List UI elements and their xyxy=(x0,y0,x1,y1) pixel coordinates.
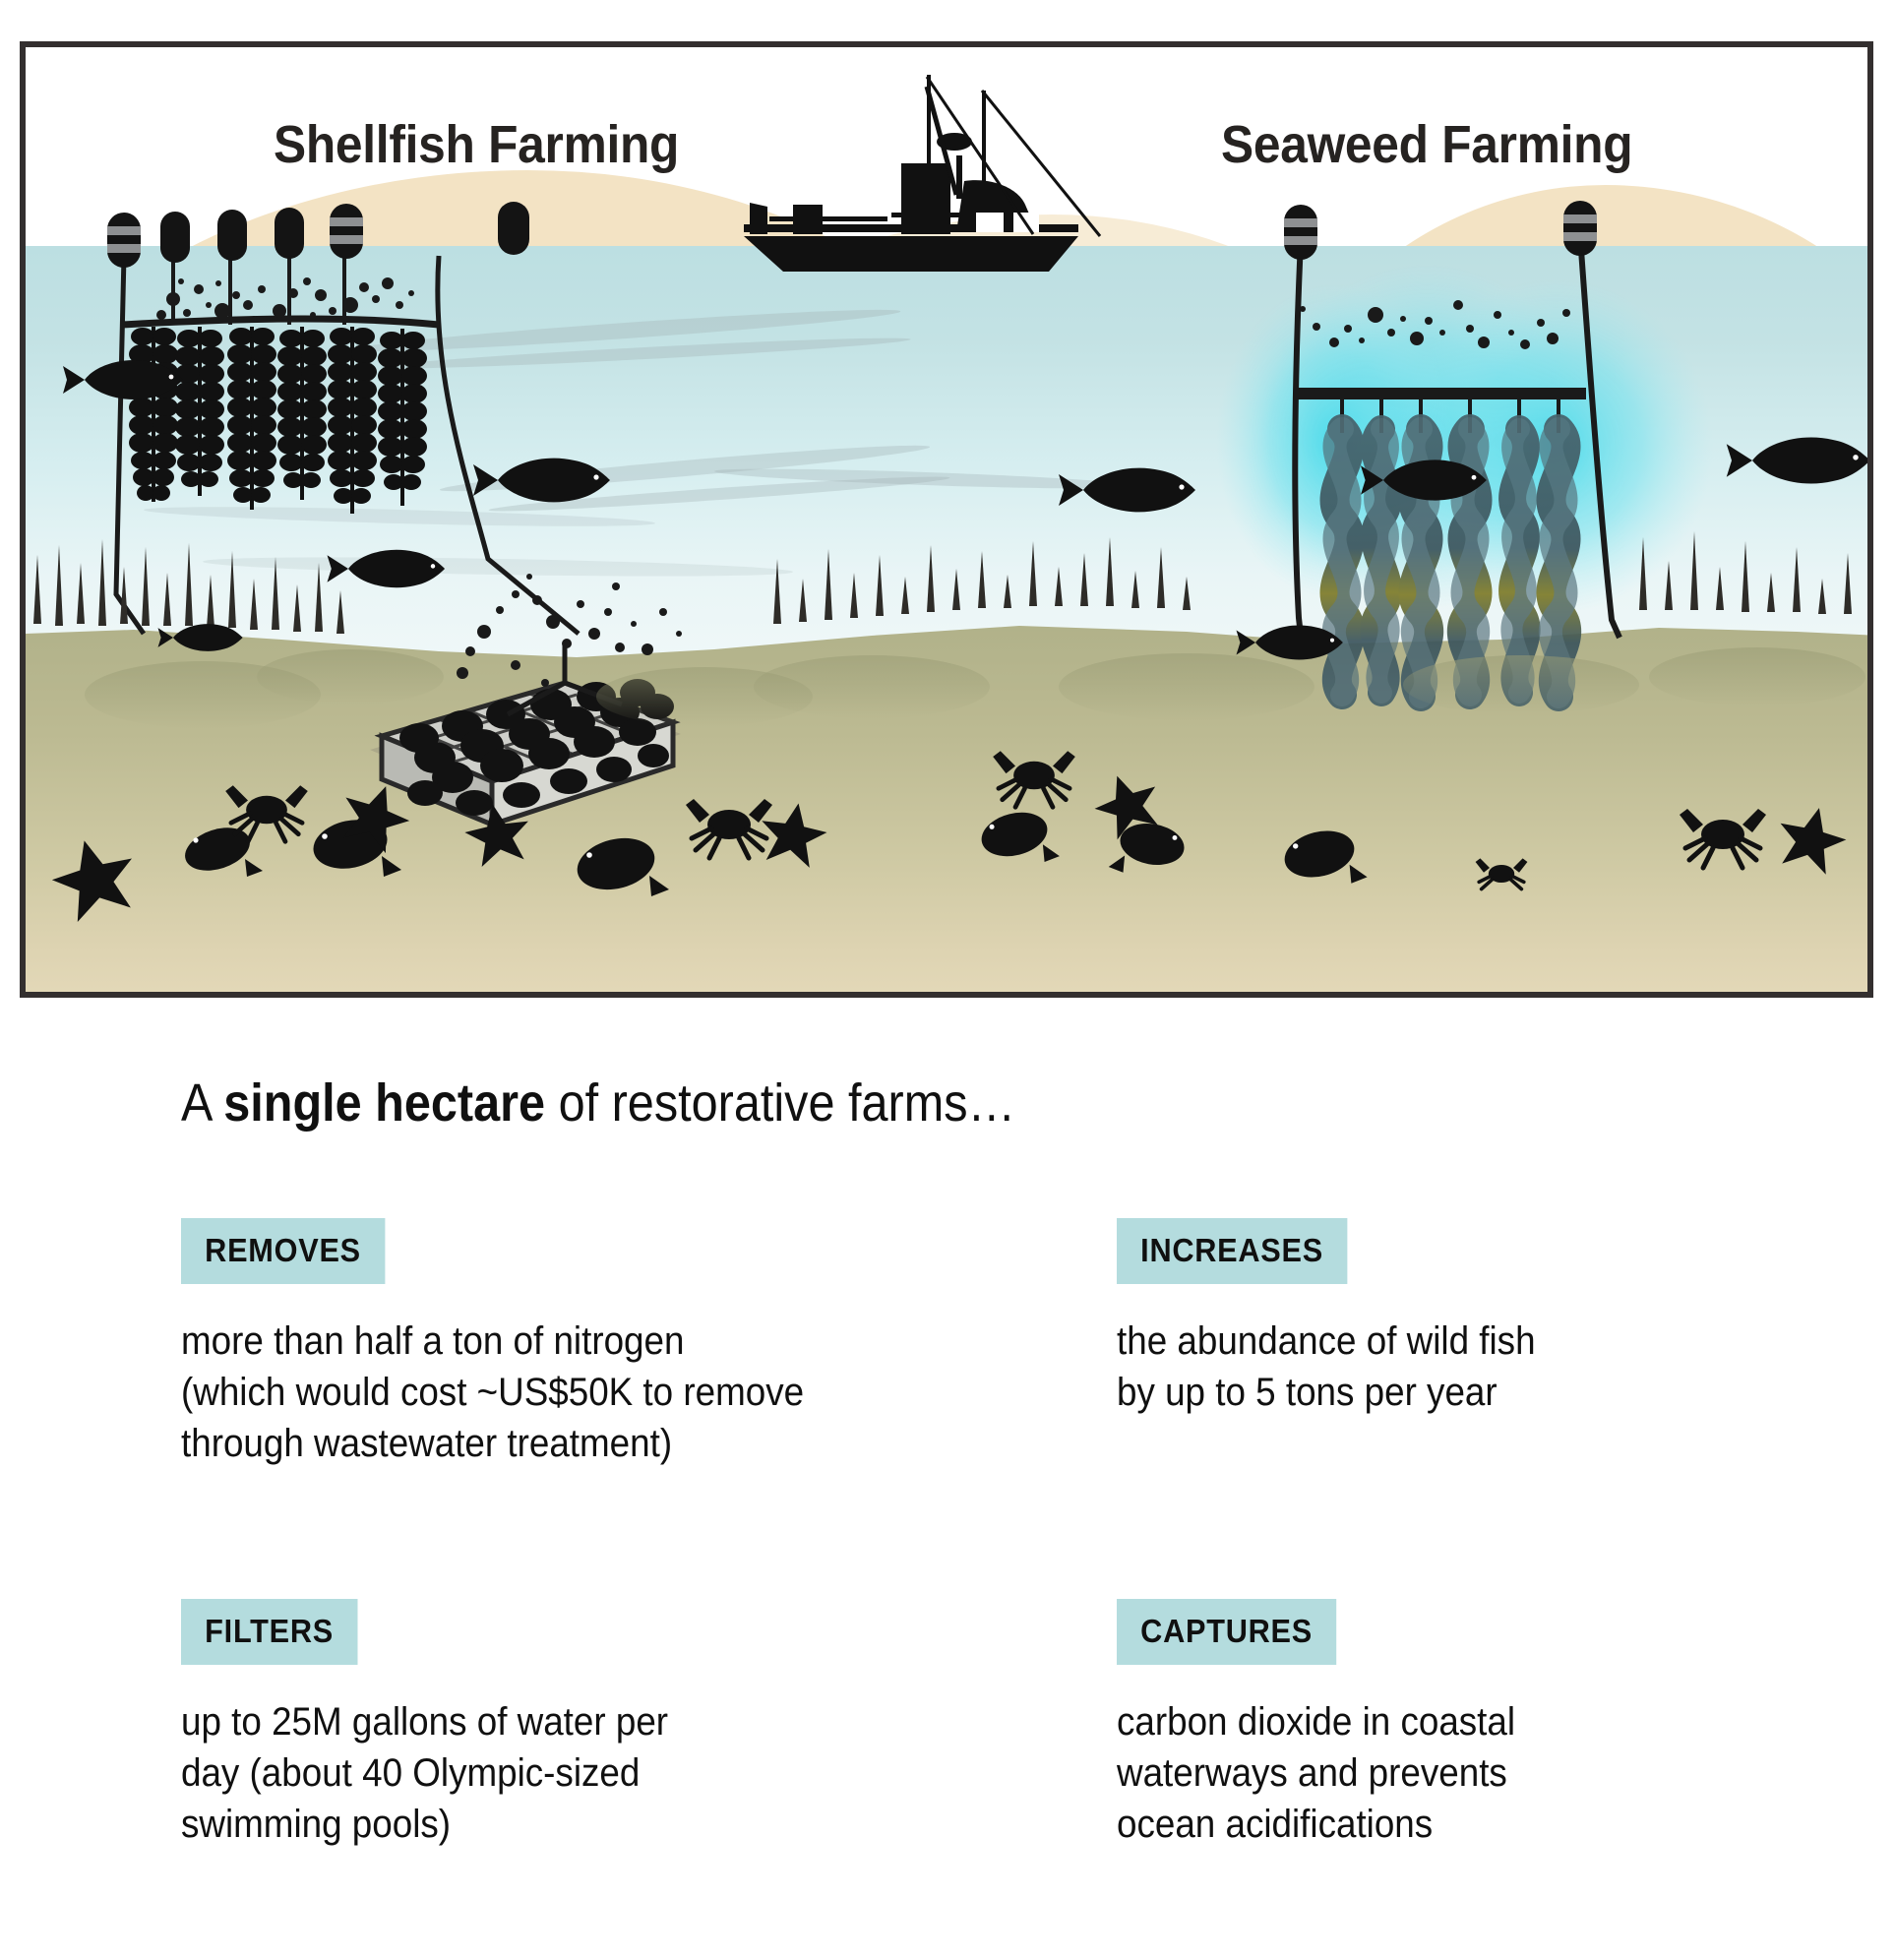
fact-card-increases: INCREASES the abundance of wild fish by … xyxy=(1117,1218,1572,1418)
headline-prefix: A xyxy=(181,1073,223,1133)
fact-card-captures: CAPTURES carbon dioxide in coastal water… xyxy=(1117,1599,1550,1850)
fish xyxy=(1727,438,1867,484)
fact-body-text: carbon dioxide in coastal waterways and … xyxy=(1117,1696,1515,1850)
surface-buoys-left xyxy=(107,202,529,268)
status-badge: FILTERS xyxy=(181,1599,357,1665)
cage-bubbles xyxy=(457,574,682,687)
mussel-droppers xyxy=(129,327,427,514)
kelp-lines xyxy=(1334,394,1566,697)
sand-mounds xyxy=(85,647,1865,728)
headline-emphasis: single hectare xyxy=(223,1073,545,1133)
fish xyxy=(328,550,446,587)
fact-body-text: more than half a ton of nitrogen (which … xyxy=(181,1316,804,1469)
fact-card-filters: FILTERS up to 25M gallons of water per d… xyxy=(181,1599,710,1850)
illustration-title-seaweed: Seaweed Farming xyxy=(1221,114,1632,175)
status-badge: CAPTURES xyxy=(1117,1599,1336,1665)
fishing-boat xyxy=(744,75,1100,272)
fact-body-text: the abundance of wild fish by up to 5 to… xyxy=(1117,1316,1536,1418)
status-badge: INCREASES xyxy=(1117,1218,1347,1284)
illustration-vector-layer xyxy=(26,47,1867,992)
illustration-panel: Shellfish Farming Seaweed Farming xyxy=(20,41,1873,998)
status-badge: REMOVES xyxy=(181,1218,385,1284)
illustration-title-shellfish: Shellfish Farming xyxy=(274,114,679,175)
headline-suffix: of restorative farms… xyxy=(545,1073,1015,1133)
fact-body-text: up to 25M gallons of water per day (abou… xyxy=(181,1696,668,1850)
plankton-bubbles xyxy=(156,277,414,322)
surface-buoys-right xyxy=(1284,201,1597,260)
fish xyxy=(473,459,610,503)
fish xyxy=(1059,468,1195,513)
fact-card-removes: REMOVES more than half a ton of nitrogen… xyxy=(181,1218,858,1469)
fish xyxy=(158,624,243,651)
infographic-page: Shellfish Farming Seaweed Farming A sing… xyxy=(0,0,1895,1960)
page-headline: A single hectare of restorative farms… xyxy=(181,1072,1015,1133)
